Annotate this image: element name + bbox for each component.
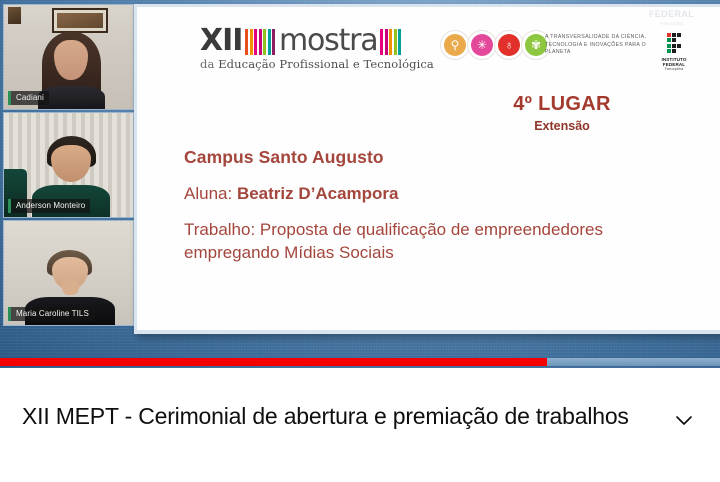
- student-name: Beatriz D’Acampora: [237, 184, 399, 203]
- participant-name-label: Cadiani: [8, 91, 49, 105]
- youtube-video-page: Cadiani Anderson Monteiro: [0, 0, 720, 482]
- video-progress-track[interactable]: [0, 358, 720, 366]
- circle-slot-1: ⚲: [440, 30, 470, 60]
- institution-watermark: INSTITUTO FEDERAL Farroupilha: [646, 7, 697, 29]
- participant-name-label: Maria Caroline TILS: [8, 307, 94, 321]
- video-progress-fill[interactable]: [0, 358, 547, 366]
- work-line: Trabalho: Proposta de qualificação de em…: [184, 218, 684, 264]
- award-category: Extensão: [467, 119, 657, 133]
- if-logo-squares: [667, 33, 682, 53]
- instituto-federal-logo: INSTITUTO FEDERAL Farroupilha: [653, 33, 695, 73]
- logo-subtitle-rest: Educação Profissional e Tecnológica: [218, 57, 434, 71]
- expand-description-button[interactable]: [664, 400, 704, 440]
- participant-filmstrip: Cadiani Anderson Monteiro: [3, 4, 134, 326]
- presentation-slide: INSTITUTO FEDERAL Farroupilha XII mostra: [137, 7, 720, 330]
- participant-tile-1[interactable]: Cadiani: [3, 4, 134, 110]
- circle-slot-3: ♁: [494, 30, 524, 60]
- logo-word: mostra: [279, 26, 378, 56]
- award-block: 4º LUGAR Extensão: [467, 93, 657, 133]
- atom-icon: ✾: [525, 34, 547, 56]
- participant-tile-2[interactable]: Anderson Monteiro: [3, 112, 134, 218]
- key-icon: ⚲: [444, 34, 466, 56]
- if-name-unit: Farroupilha: [653, 67, 695, 72]
- chevron-down-icon: [672, 408, 696, 432]
- logo-numeral: XII: [200, 26, 242, 56]
- if-logo-mark: [653, 33, 695, 55]
- wall-frame-small: [8, 7, 21, 24]
- video-title: XII MEPT - Cerimonial de abertura e prem…: [22, 398, 664, 434]
- mostra-event-logo: XII mostra da Educação Profissional e Te…: [200, 24, 450, 71]
- logo-subtitle: da Educação Profissional e Tecnológica: [200, 57, 450, 71]
- face-shape: [51, 145, 91, 182]
- work-label: Trabalho:: [184, 220, 255, 239]
- video-title-bar: XII MEPT - Cerimonial de abertura e prem…: [0, 368, 720, 482]
- watermark-line-2: FEDERAL: [649, 9, 694, 19]
- lightbulb-icon: ♁: [498, 34, 520, 56]
- molecule-icon: ✳: [471, 34, 493, 56]
- logo-bars-right: [380, 27, 403, 55]
- award-place: 4º LUGAR: [467, 93, 657, 116]
- if-logo-name: INSTITUTO FEDERAL Farroupilha: [653, 57, 695, 73]
- circle-slot-2: ✳: [467, 30, 497, 60]
- slide-body-text: Campus Santo Augusto Aluna: Beatriz D’Ac…: [184, 147, 684, 264]
- theme-icon-group: ⚲ ✳ ♁ ✾: [440, 30, 548, 60]
- participant-name-label: Anderson Monteiro: [8, 199, 90, 213]
- wall-frame-large: [52, 8, 109, 33]
- logo-bars-left: [245, 27, 277, 55]
- logo-subtitle-prefix: da: [200, 57, 218, 71]
- campus-name: Campus Santo Augusto: [184, 147, 684, 168]
- event-tagline: A transversalidade da ciência, tecnologi…: [545, 34, 653, 57]
- watermark-line-3: Farroupilha: [646, 19, 697, 29]
- student-label: Aluna:: [184, 184, 232, 203]
- signing-hand-shape: [62, 279, 78, 295]
- participant-tile-3[interactable]: Maria Caroline TILS: [3, 220, 134, 326]
- student-line: Aluna: Beatriz D’Acampora: [184, 182, 684, 205]
- video-player-stage[interactable]: Cadiani Anderson Monteiro: [0, 0, 720, 368]
- shared-slide-frame[interactable]: INSTITUTO FEDERAL Farroupilha XII mostra: [134, 4, 720, 334]
